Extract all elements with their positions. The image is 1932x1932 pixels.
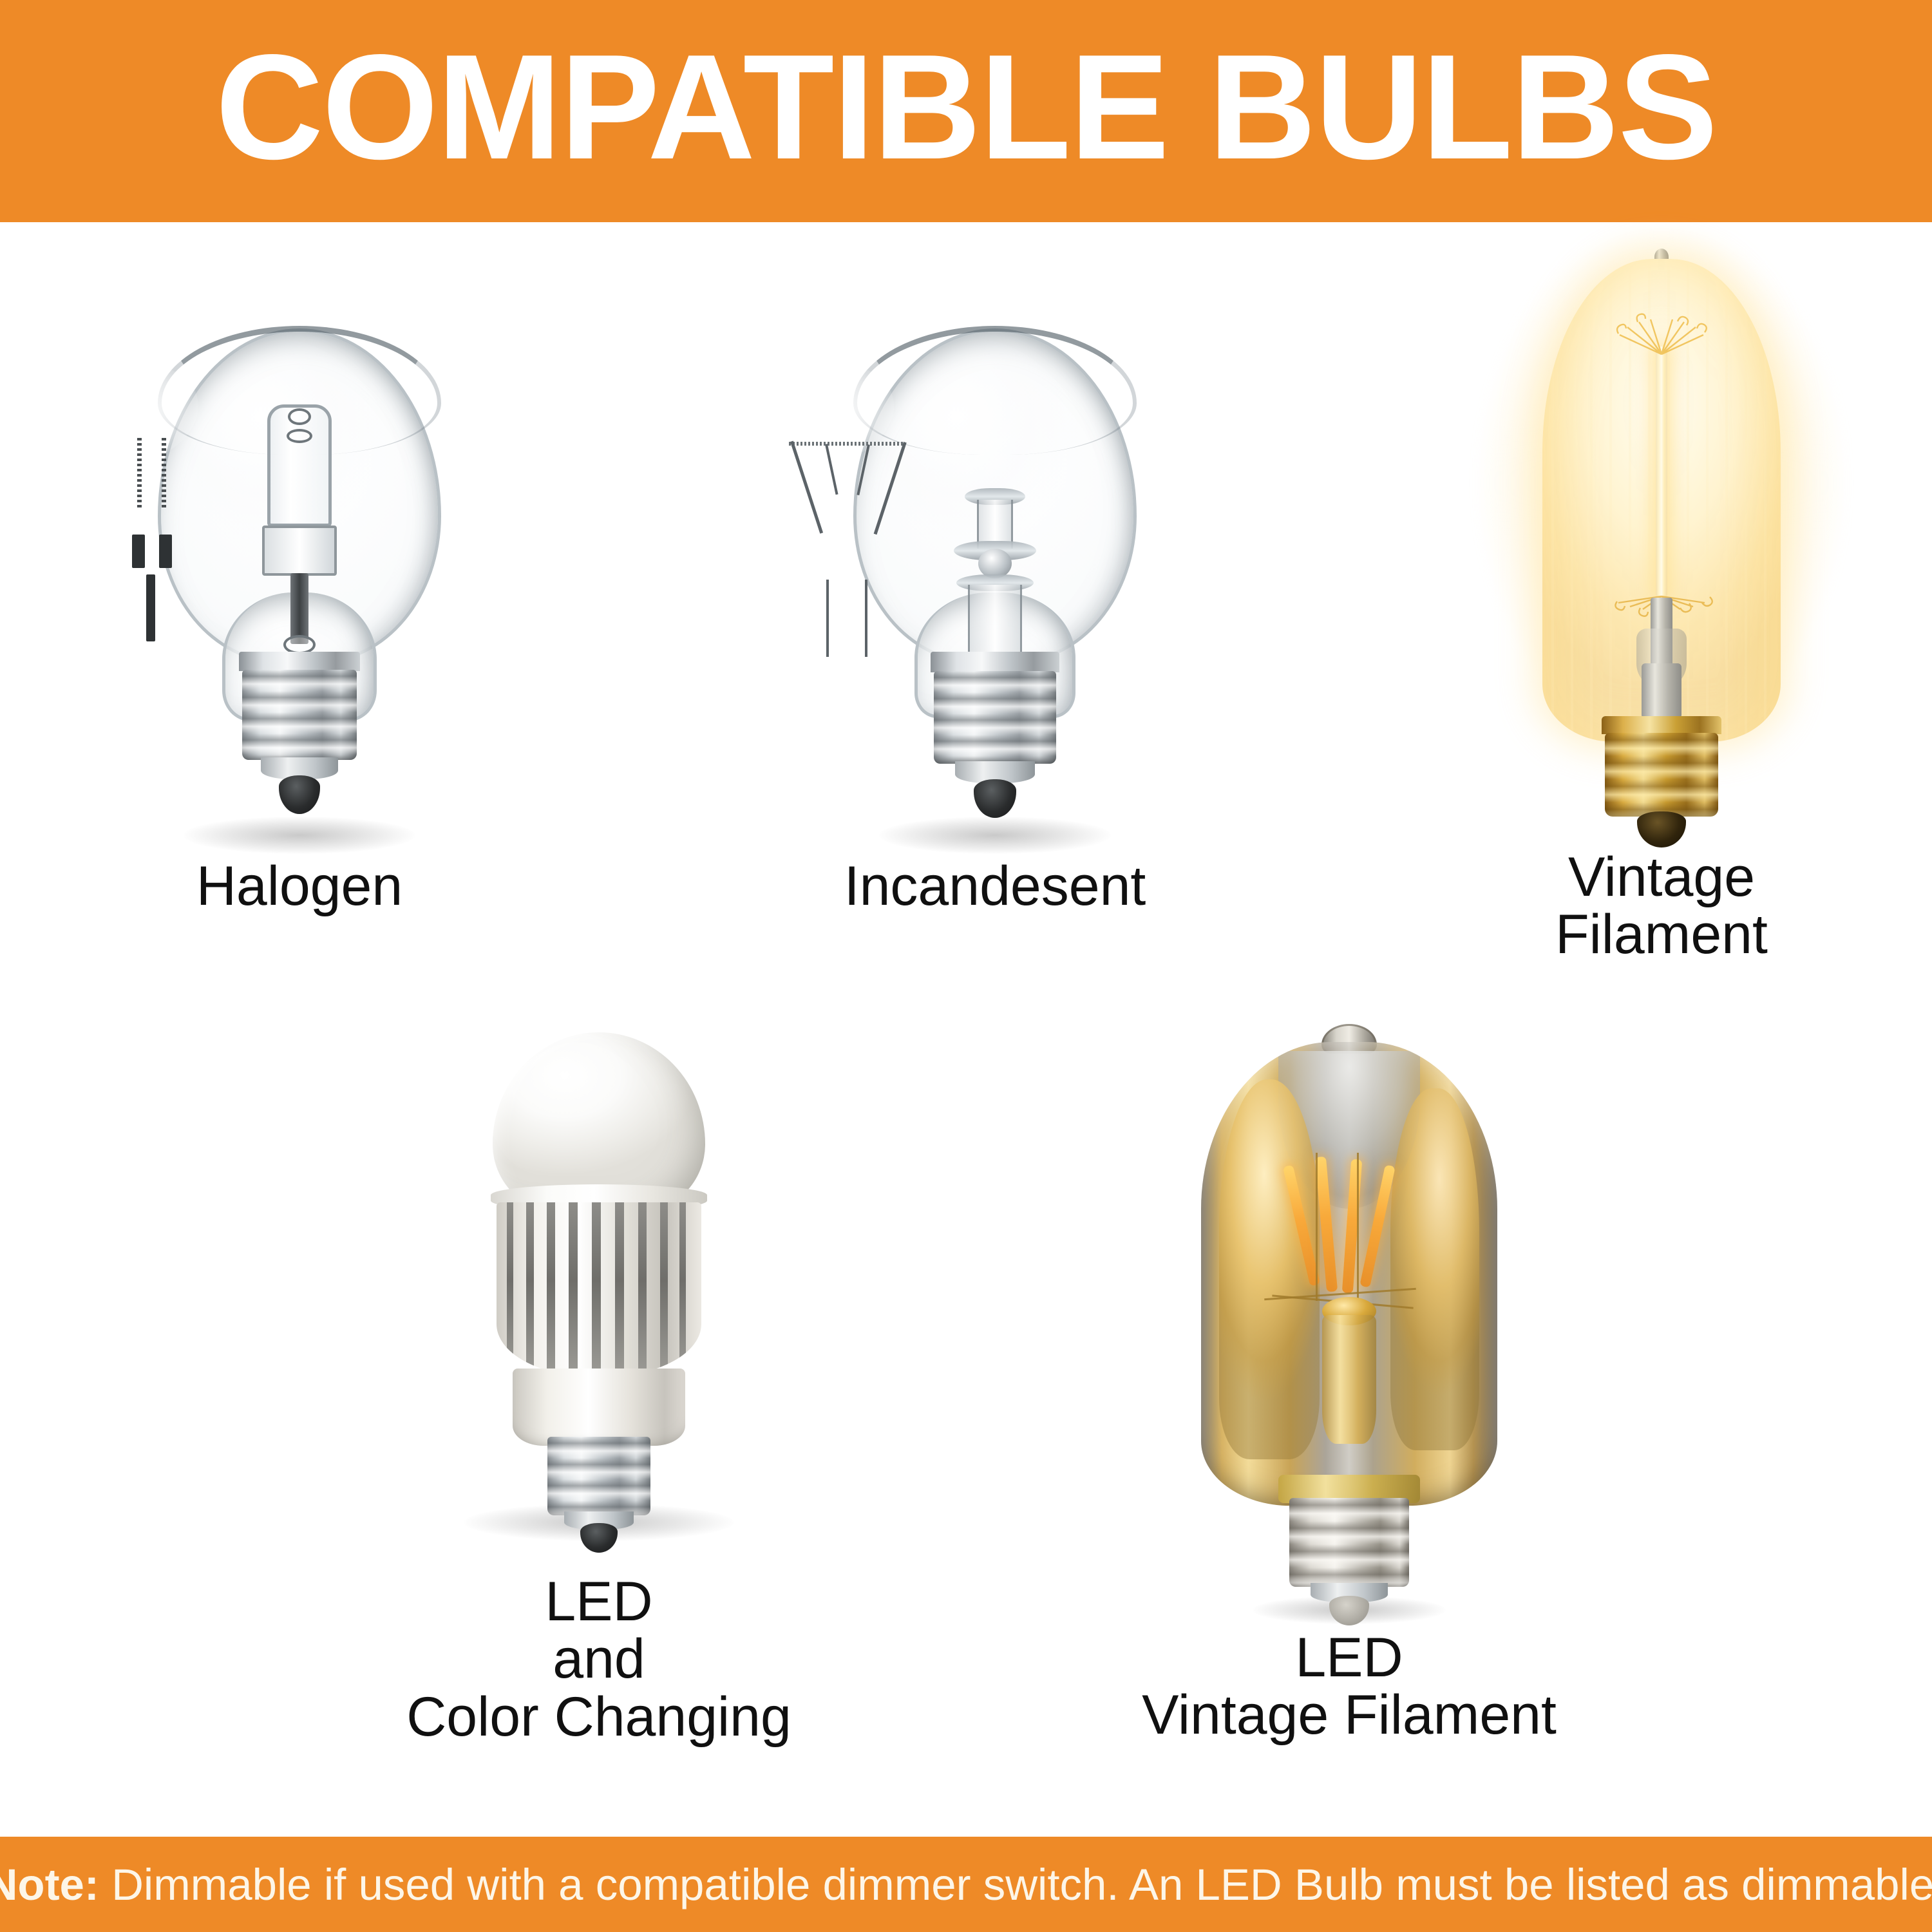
footer-note-text: Dimmable if used with a compatible dimme… bbox=[99, 1860, 1932, 1909]
halogen-holder-contact-left bbox=[132, 535, 145, 568]
led-driver-skirt bbox=[513, 1368, 685, 1446]
vintage-filament-base-tip bbox=[1637, 811, 1686, 848]
bulb-card-halogen: Halogen bbox=[10, 322, 589, 953]
header-banner: COMPATIBLE BULBS bbox=[0, 0, 1932, 222]
footer-note-label: Note: bbox=[0, 1860, 99, 1909]
led-heatsink-fins bbox=[497, 1202, 701, 1376]
incandescent-base-tip bbox=[974, 779, 1016, 818]
incandescent-feed-left bbox=[826, 580, 829, 657]
led-fin-slot bbox=[592, 1202, 601, 1376]
compatible-bulbs-infographic: COMPATIBLE BULBS bbox=[0, 0, 1932, 1932]
vintage-filament-caption: Vintage Filament bbox=[1372, 849, 1932, 964]
halogen-capsule-knot-2 bbox=[287, 429, 312, 443]
halogen-screw-base bbox=[242, 670, 357, 760]
incandescent-screw-base bbox=[934, 671, 1056, 764]
bulb-card-vintage-filament: Vintage Filament bbox=[1372, 245, 1932, 953]
led-caption: LED and Color Changing bbox=[309, 1573, 889, 1746]
halogen-bulb-icon bbox=[10, 322, 589, 850]
vintage-filament-screw-base bbox=[1605, 733, 1718, 817]
halogen-stem bbox=[290, 573, 308, 644]
led-vintage-center-stem bbox=[1322, 1315, 1376, 1444]
incandescent-base-collar bbox=[931, 652, 1059, 672]
led-vintage-filament-bulb-icon bbox=[1059, 1024, 1639, 1616]
led-screw-base bbox=[547, 1437, 650, 1515]
led-fin-slot bbox=[569, 1202, 578, 1376]
led-vintage-amber-sheen-left bbox=[1219, 1079, 1320, 1459]
halogen-capsule-holder bbox=[262, 526, 337, 576]
incandescent-stem-lower bbox=[968, 585, 1022, 659]
led-vintage-screw-base bbox=[1289, 1498, 1409, 1587]
incandescent-filament bbox=[789, 442, 905, 446]
halogen-capsule-knot bbox=[288, 408, 311, 425]
page-title: COMPATIBLE BULBS bbox=[216, 33, 1717, 182]
halogen-holder-contact-right bbox=[159, 535, 172, 568]
led-fin-slot bbox=[547, 1202, 555, 1376]
halogen-caption: Halogen bbox=[10, 858, 589, 915]
incandescent-glass-rim bbox=[853, 326, 1137, 455]
halogen-coil-right bbox=[162, 438, 166, 509]
led-vintage-filament-caption: LED Vintage Filament bbox=[1059, 1629, 1639, 1745]
vintage-filament-stem-foot bbox=[1642, 663, 1681, 719]
halogen-shadow bbox=[184, 817, 415, 854]
vintage-filament-bulb-icon bbox=[1372, 245, 1932, 824]
led-fin-slot bbox=[507, 1202, 513, 1376]
bulb-card-led-vintage-filament: LED Vintage Filament bbox=[1059, 1024, 1639, 1829]
incandescent-caption: Incandesent bbox=[705, 858, 1285, 915]
led-fin-slot bbox=[526, 1202, 534, 1376]
vintage-filament-base-collar bbox=[1602, 716, 1721, 734]
footer-note: Note: Dimmable if used with a compatible… bbox=[0, 1862, 1932, 1907]
incandescent-bulb-icon bbox=[705, 322, 1285, 850]
bulb-card-led-color-changing: LED and Color Changing bbox=[309, 1027, 889, 1800]
led-vintage-lead-wire bbox=[1316, 1153, 1318, 1301]
led-base-tip bbox=[580, 1523, 618, 1553]
halogen-stem-core bbox=[146, 574, 155, 641]
bulb-card-incandescent: Incandesent bbox=[705, 322, 1285, 953]
halogen-base-tip bbox=[279, 775, 320, 814]
led-vintage-amber-sheen-right bbox=[1390, 1088, 1479, 1450]
led-fin-slot bbox=[638, 1202, 647, 1376]
led-fin-slot bbox=[615, 1202, 624, 1376]
halogen-base-collar bbox=[239, 652, 360, 671]
led-vintage-lead-wire bbox=[1357, 1153, 1359, 1301]
incandescent-feed-right bbox=[865, 580, 867, 657]
led-fin-slot bbox=[679, 1202, 686, 1376]
led-bulb-icon bbox=[309, 1027, 889, 1536]
halogen-coil-left bbox=[137, 438, 142, 509]
led-fin-slot bbox=[660, 1202, 668, 1376]
incandescent-shadow bbox=[879, 817, 1111, 854]
footer-note-banner: Note: Dimmable if used with a compatible… bbox=[0, 1837, 1932, 1932]
